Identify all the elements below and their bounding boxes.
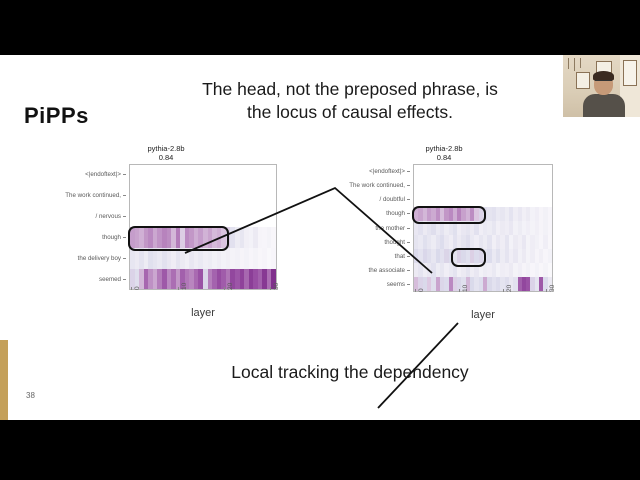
x-axis-tick-mark [270,287,271,290]
chart-title: pythia-2.8b0.84 [335,145,553,162]
x-axis-tick-mark [546,289,547,292]
heatmap-cell [548,221,552,235]
bottom-caption: Local tracking the dependency [160,362,540,383]
heatmap-cell [548,235,552,249]
gold-accent-bar [0,340,8,420]
page-title: The head, not the preposed phrase, is th… [150,78,550,124]
letterbox-top [0,0,640,55]
heatmap-row [414,235,552,249]
letterbox-bottom [0,420,640,480]
presenter-torso [583,94,625,117]
screen-capture: PiPPs The head, not the preposed phrase,… [0,0,640,480]
heatmap-row [130,248,276,269]
y-axis-tick-label: / nervous [55,206,126,227]
plot-area: <|endoftext|>The work continued,/ doubtf… [335,164,553,292]
y-axis-labels: <|endoftext|>The work continued,/ doubtf… [335,164,413,292]
y-axis-tick-label: the mother [335,221,410,235]
heatmap-grid [129,164,277,290]
pendant-lamp-icon [574,58,575,71]
y-axis-tick-label: <|endoftext|> [55,164,126,185]
heatmap-cell [548,165,552,179]
x-axis-tick-mark [415,289,416,292]
x-axis-tick-label: 0 [418,288,425,292]
heatmap-cell [271,186,276,207]
x-axis-label: layer [413,309,553,321]
heatmap-cell [271,248,276,269]
x-axis-tick-label: 20 [506,285,513,292]
heatmap-cell [271,207,276,228]
highlight-box [451,248,486,266]
y-axis-labels: <|endoftext|>The work continued,/ nervou… [55,164,129,290]
x-axis-tick-label: 0 [134,287,141,291]
heatmap-cell [271,227,276,248]
y-axis-tick-label: The work continued, [335,178,410,192]
x-axis: 0102030layer [413,292,553,318]
y-axis-tick-label: though [55,227,126,248]
y-axis-tick-label: that [335,249,410,263]
heatmap-cell [548,263,552,277]
x-axis: 0102030layer [129,290,277,316]
heatmap-cell [548,179,552,193]
heatmap-cell [548,249,552,263]
highlight-box [128,226,229,251]
heatmap-chart-right: pythia-2.8b0.84<|endoftext|>The work con… [335,145,553,318]
chart-title-text: pythia-2.8b [425,144,462,153]
heatmap-cell [548,207,552,221]
x-axis-tick-label: 30 [273,283,280,290]
y-axis-tick-label: The work continued, [55,185,126,206]
chart-subtitle-value: 0.84 [55,154,277,163]
heatmap-row [130,269,276,290]
section-heading: PiPPs [24,103,89,129]
heatmap-chart-left: pythia-2.8b0.84<|endoftext|>The work con… [55,145,277,316]
presenter-glasses [595,80,612,84]
y-axis-tick-label: the associate [335,264,410,278]
heatmap-row [130,186,276,207]
y-axis-tick-label: seems [335,278,410,292]
x-axis-tick-mark [224,287,225,290]
slide-number: 38 [26,391,35,400]
wall-picture-frame [623,60,637,86]
title-line-2: the locus of causal effects. [150,101,550,124]
chart-title: pythia-2.8b0.84 [55,145,277,162]
heatmap-grid [413,164,553,292]
x-axis-tick-label: 20 [227,283,234,290]
heatmap-row [414,165,552,179]
y-axis-tick-label: thought [335,235,410,249]
chart-title-text: pythia-2.8b [147,144,184,153]
x-axis-tick-mark [178,287,179,290]
presentation-slide: PiPPs The head, not the preposed phrase,… [0,55,640,420]
heatmap-cell [271,165,276,186]
y-axis-tick-label: though [335,207,410,221]
heatmap-row [414,179,552,193]
pendant-lamp-icon [568,58,569,69]
chart-subtitle-value: 0.84 [335,154,553,163]
x-axis-label: layer [129,307,277,319]
x-axis-tick-mark [131,287,132,290]
heatmap-cell [548,193,552,207]
x-axis-tick-label: 10 [181,283,188,290]
y-axis-tick-label: the delivery boy [55,248,126,269]
wall-picture-frame [576,72,590,89]
presenter-webcam[interactable] [563,55,640,117]
highlight-box [412,206,486,224]
heatmap-row [130,207,276,228]
x-axis-tick-mark [503,289,504,292]
y-axis-tick-label: <|endoftext|> [335,164,410,178]
heatmap-row [414,277,552,291]
x-axis-tick-label: 10 [462,285,469,292]
y-axis-tick-label: seemed [55,269,126,290]
pendant-lamp-icon [580,58,581,68]
x-axis-tick-label: 30 [549,285,556,292]
heatmap-row [130,165,276,186]
y-axis-tick-label: / doubtful [335,193,410,207]
plot-area: <|endoftext|>The work continued,/ nervou… [55,164,277,290]
title-line-1: The head, not the preposed phrase, is [150,78,550,101]
x-axis-tick-mark [459,289,460,292]
